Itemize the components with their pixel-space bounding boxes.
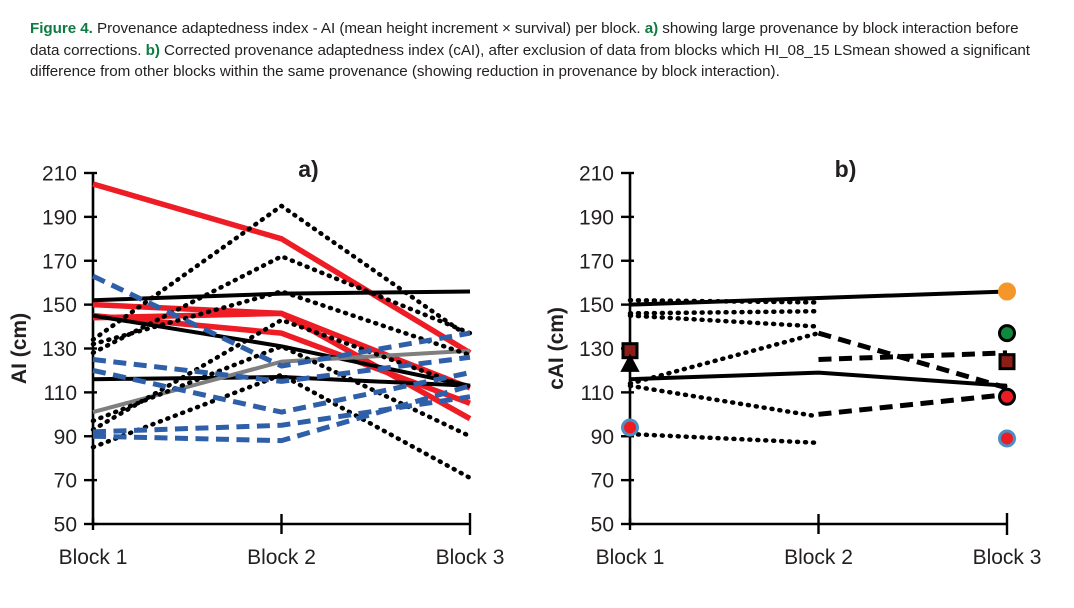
- y-tick-label: 110: [581, 382, 614, 405]
- figure-caption: Figure 4. Provenance adaptedness index -…: [30, 18, 1042, 83]
- y-tick-label: 190: [579, 206, 614, 229]
- panel-letter-a: a): [298, 156, 318, 182]
- y-tick-label: 90: [591, 426, 614, 449]
- y-tick-190: 190: [42, 206, 97, 229]
- caption-text-part-3: Corrected provenance adaptedness index (…: [30, 42, 1030, 81]
- y-tick-170: 170: [42, 250, 97, 273]
- y-tick-label: 210: [579, 163, 614, 186]
- y-tick-label: 110: [44, 382, 77, 405]
- y-tick-170: 170: [579, 250, 634, 273]
- caption-text-part-1: Provenance adaptedness index - AI (mean …: [93, 20, 645, 37]
- y-tick-150: 150: [579, 294, 634, 317]
- marker-circle-blue: [1000, 431, 1015, 446]
- series-line-black-solid-bottom: [630, 373, 1007, 386]
- series-group: [630, 291, 1007, 442]
- chart-svg-panel-b: 507090110130150170190210Block 1Block 2Bl…: [537, 148, 1074, 608]
- x-category-label: Block 3: [973, 546, 1042, 569]
- y-tick-190: 190: [579, 206, 634, 229]
- x-category-label: Block 3: [436, 546, 505, 569]
- y-tick-label: 50: [54, 514, 77, 537]
- y-tick-label: 170: [42, 250, 77, 273]
- y-tick-70: 70: [54, 470, 97, 493]
- chart-svg-panel-a: 507090110130150170190210Block 1Block 2Bl…: [0, 148, 537, 608]
- chart-panel-b: 507090110130150170190210Block 1Block 2Bl…: [537, 148, 1074, 608]
- y-tick-label: 90: [54, 426, 77, 449]
- y-tick-label: 170: [579, 250, 614, 273]
- series-group: [93, 184, 470, 478]
- marker-circle-red: [1000, 389, 1015, 404]
- caption-panel-a-ref: a): [645, 20, 658, 37]
- figure-root: Figure 4. Provenance adaptedness index -…: [0, 0, 1074, 608]
- x-tick-block-3: Block 3: [973, 513, 1042, 569]
- y-tick-label: 50: [591, 514, 614, 537]
- y-tick-label: 130: [579, 338, 614, 361]
- y-tick-label: 70: [54, 470, 77, 493]
- series-line-dotted-6: [630, 434, 819, 443]
- series-line-dashed-2: [819, 395, 1008, 415]
- series-line-dotted-3: [630, 316, 819, 327]
- markers-group: [622, 284, 1015, 446]
- y-tick-50: 50: [591, 514, 634, 537]
- panel-letter-b: b): [835, 156, 857, 182]
- x-category-label: Block 2: [784, 546, 853, 569]
- y-tick-50: 50: [54, 514, 97, 537]
- marker-circle-orange: [1000, 284, 1015, 299]
- chart-panel-a: 507090110130150170190210Block 1Block 2Bl…: [0, 148, 537, 608]
- y-tick-label: 70: [591, 470, 614, 493]
- y-tick-110: 110: [44, 382, 97, 405]
- y-axis-title: AI (cm): [8, 313, 31, 384]
- series-line-dashed-1: [819, 353, 1008, 360]
- marker-square-block3: [1000, 355, 1014, 369]
- y-tick-90: 90: [54, 426, 97, 449]
- x-category-label: Block 1: [596, 546, 665, 569]
- y-tick-label: 130: [42, 338, 77, 361]
- caption-panel-b-ref: b): [146, 42, 160, 59]
- marker-circle-block1: [623, 420, 638, 435]
- y-tick-label: 210: [42, 163, 77, 186]
- series-line-dotted-5: [630, 386, 819, 417]
- x-category-label: Block 1: [59, 546, 128, 569]
- y-tick-150: 150: [42, 294, 97, 317]
- y-tick-label: 150: [42, 294, 77, 317]
- figure-plots: 507090110130150170190210Block 1Block 2Bl…: [0, 148, 1074, 608]
- x-tick-block-3: Block 3: [436, 513, 505, 569]
- y-tick-110: 110: [581, 382, 634, 405]
- y-tick-210: 210: [42, 163, 97, 186]
- y-tick-210: 210: [579, 163, 634, 186]
- series-line-red-1: [93, 184, 470, 353]
- x-tick-block-2: Block 2: [247, 514, 316, 569]
- y-tick-130: 130: [42, 338, 97, 361]
- y-tick-label: 190: [42, 206, 77, 229]
- y-tick-label: 150: [579, 294, 614, 317]
- y-axis-title: cAI (cm): [545, 307, 568, 390]
- y-tick-70: 70: [591, 470, 634, 493]
- x-tick-block-2: Block 2: [784, 514, 853, 569]
- marker-circle-green: [1000, 326, 1015, 341]
- figure-number-label: Figure 4.: [30, 20, 93, 37]
- series-line-dotted-2: [630, 311, 819, 313]
- x-category-label: Block 2: [247, 546, 316, 569]
